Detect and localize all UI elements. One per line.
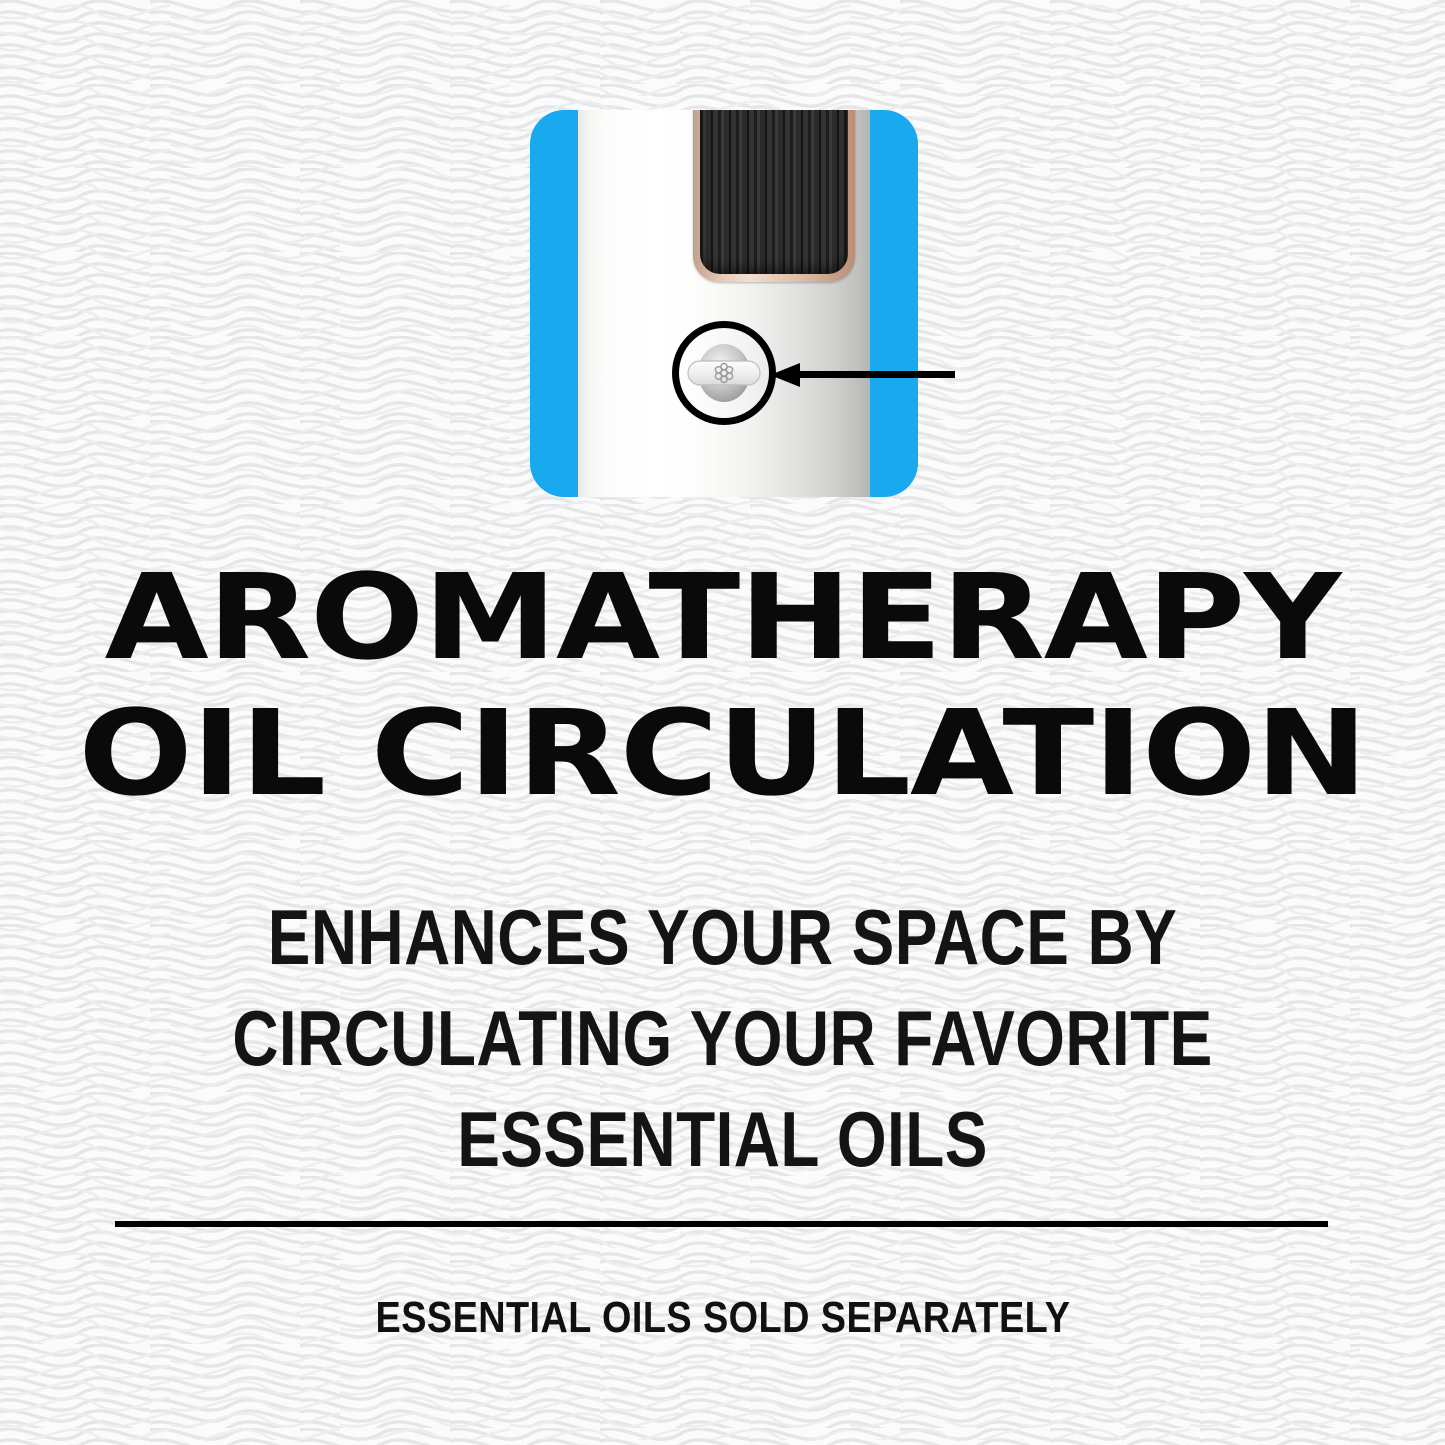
grille-bezel-trim [693, 110, 855, 282]
headline-line-2: OIL CIRCULATION [0, 696, 1445, 812]
subheading-block: ENHANCES YOUR SPACE BY CIRCULATING YOUR … [0, 898, 1445, 1178]
subheading-line-3: ESSENTIAL OILS [130, 1100, 1315, 1178]
product-image-panel [530, 110, 918, 497]
marketing-image-canvas: AROMATHERAPY OIL CIRCULATION ENHANCES YO… [0, 0, 1445, 1445]
footnote-block: ESSENTIAL OILS SOLD SEPARATELY [0, 1293, 1445, 1343]
subheading-line-1: ENHANCES YOUR SPACE BY [130, 898, 1315, 976]
subheading-line-2: CIRCULATING YOUR FAVORITE [130, 999, 1315, 1077]
horizontal-divider [115, 1221, 1328, 1227]
footnote-text: ESSENTIAL OILS SOLD SEPARATELY [375, 1293, 1070, 1343]
aromatherapy-pad-callout [669, 318, 779, 428]
callout-arrow-icon [770, 360, 955, 390]
aromatherapy-pad [688, 361, 760, 385]
headline-block: AROMATHERAPY OIL CIRCULATION [0, 560, 1445, 811]
fan-body [578, 110, 870, 497]
air-vent-grille [700, 110, 848, 274]
headline-line-1: AROMATHERAPY [0, 560, 1445, 676]
